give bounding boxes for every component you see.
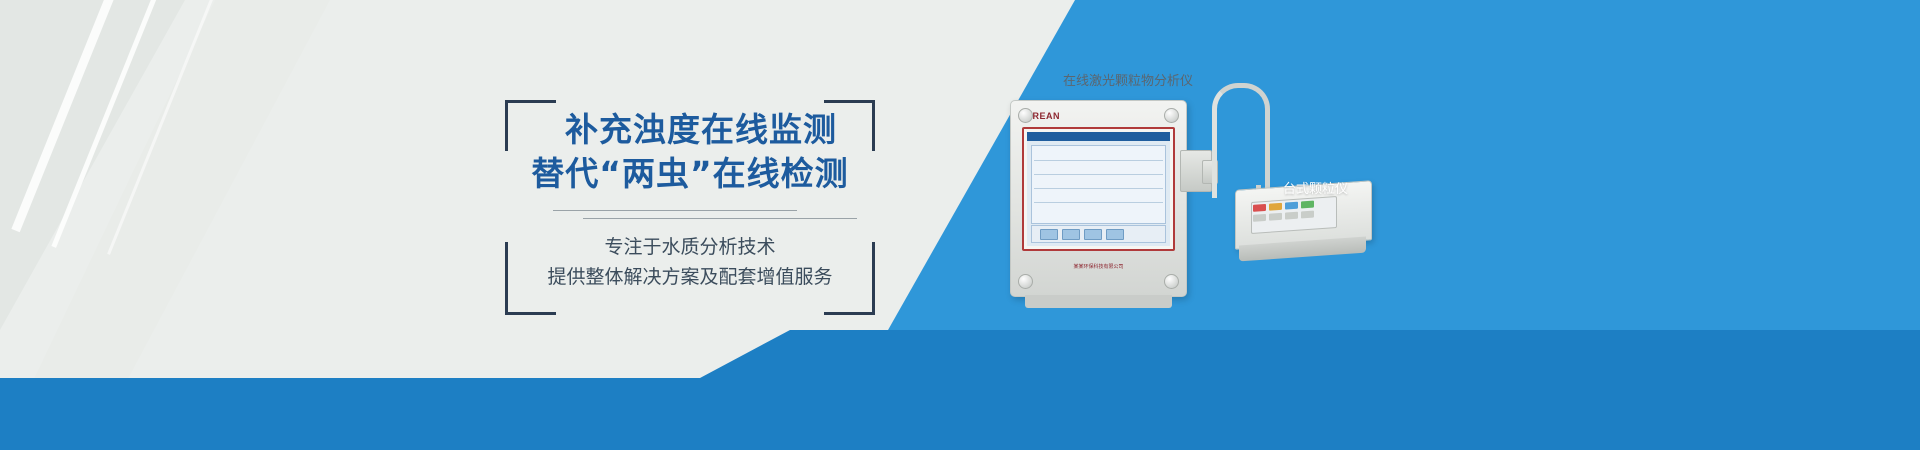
analyzer-footer-note: 某某环保科技有限公司 (1011, 263, 1186, 270)
headline-line-1: 补充浊度在线监测 (505, 108, 875, 152)
keypad-key (1269, 213, 1282, 221)
enclosure-screw-icon (1018, 274, 1033, 289)
keypad-key (1253, 204, 1266, 212)
label-online-laser-particle-analyzer: 在线激光颗粒物分析仪 (1063, 70, 1193, 89)
divider-rule-lower (583, 218, 857, 219)
screen-grid-line (1034, 188, 1163, 189)
keypad-key (1301, 211, 1314, 219)
headline: 补充浊度在线监测 替代“两虫”在线检测 (505, 108, 875, 196)
screen-button (1062, 229, 1080, 240)
screen-button (1084, 229, 1102, 240)
subtitle: 专注于水质分析技术 提供整体解决方案及配套增值服务 (505, 232, 875, 292)
enclosure-screw-icon (1164, 274, 1179, 289)
divider-group (535, 210, 857, 224)
screen-grid-line (1034, 160, 1163, 161)
analyzer-screen-frame (1022, 127, 1175, 251)
screen-button (1106, 229, 1124, 240)
keypad-key (1269, 203, 1282, 211)
divider-rule-upper (553, 210, 797, 211)
headline-line-2: 替代“两虫”在线检测 (505, 152, 875, 196)
screen-grid-line (1034, 202, 1163, 203)
keypad-key (1285, 212, 1298, 220)
enclosure-screw-icon (1164, 108, 1179, 123)
screen-grid-line (1034, 174, 1163, 175)
equipment-illustration: GREAN (980, 55, 1400, 365)
keypad-key (1285, 202, 1298, 210)
keypad-key (1301, 201, 1314, 209)
subtitle-line-1: 专注于水质分析技术 (505, 232, 875, 262)
label-desktop-particle-counter: 台式颗粒仪 (1283, 178, 1348, 197)
screen-button (1040, 229, 1058, 240)
analyzer-screen (1027, 132, 1170, 246)
online-laser-particle-analyzer: GREAN (1010, 100, 1187, 297)
enclosure-screw-icon (1018, 108, 1033, 123)
screen-button-bar (1031, 225, 1166, 243)
analyzer-base (1025, 295, 1172, 308)
subtitle-line-2: 提供整体解决方案及配套增值服务 (505, 262, 875, 292)
keypad-key (1253, 214, 1266, 222)
sample-tube (1212, 83, 1270, 198)
desktop-particle-counter (1235, 185, 1370, 267)
screen-data-grid (1031, 145, 1166, 224)
headline-text-block: 补充浊度在线监测 替代“两虫”在线检测 专注于水质分析技术 提供整体解决方案及配… (505, 100, 875, 315)
screen-titlebar (1027, 132, 1170, 141)
promo-banner: 补充浊度在线监测 替代“两虫”在线检测 专注于水质分析技术 提供整体解决方案及配… (0, 0, 1920, 450)
